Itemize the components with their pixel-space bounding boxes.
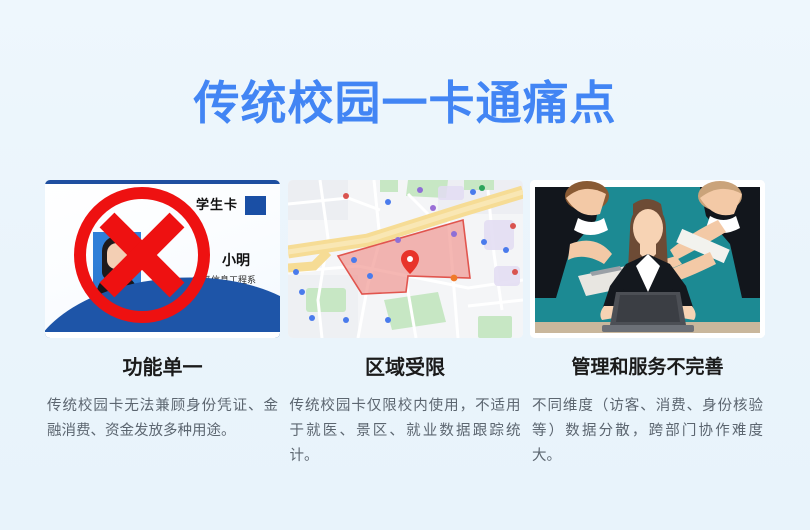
column-heading-function-single: 功能单一 bbox=[45, 355, 280, 381]
student-card-image: 学生卡 小明 23级信息工程系 软件技术2班 bbox=[45, 180, 280, 338]
pain-point-column-area-limited: 区域受限 传统校园卡仅限校内使用，不适用于就医、景区、就业数据跟踪统计。 bbox=[288, 180, 523, 469]
card-top-bar bbox=[45, 180, 280, 184]
card-type-label: 学生卡 bbox=[196, 194, 238, 213]
pain-point-columns: 学生卡 小明 23级信息工程系 软件技术2班 bbox=[45, 180, 765, 469]
student-id-card: 学生卡 小明 23级信息工程系 软件技术2班 bbox=[45, 180, 280, 338]
slide-root: 传统校园一卡通痛点 学生卡 小明 23级信息工程系 软件技术 bbox=[0, 0, 810, 530]
campus-area-map bbox=[288, 180, 523, 338]
card-logo-square bbox=[245, 196, 266, 215]
pain-point-column-management-service: 管理和服务不完善 不同维度（访客、消费、身份核验等）数据分散，跨部门协作难度大。 bbox=[530, 180, 765, 469]
column-body-management-service: 不同维度（访客、消费、身份核验等）数据分散，跨部门协作难度大。 bbox=[530, 394, 765, 469]
map-image bbox=[288, 180, 523, 338]
overwhelmed-worker-illustration bbox=[530, 180, 765, 338]
column-body-area-limited: 传统校园卡仅限校内使用，不适用于就医、景区、就业数据跟踪统计。 bbox=[288, 394, 523, 469]
card-bottom-strip bbox=[45, 332, 280, 338]
column-body-function-single: 传统校园卡无法兼顾身份凭证、金融消费、资金发放多种用途。 bbox=[45, 394, 280, 444]
column-heading-management-service: 管理和服务不完善 bbox=[530, 355, 765, 381]
photo-face bbox=[107, 243, 127, 269]
pain-point-column-function-single: 学生卡 小明 23级信息工程系 软件技术2班 bbox=[45, 180, 280, 469]
student-name: 小明 bbox=[222, 250, 250, 270]
column-heading-area-limited: 区域受限 bbox=[288, 355, 523, 381]
office-illustration-image bbox=[530, 180, 765, 338]
page-title: 传统校园一卡通痛点 bbox=[0, 76, 810, 130]
